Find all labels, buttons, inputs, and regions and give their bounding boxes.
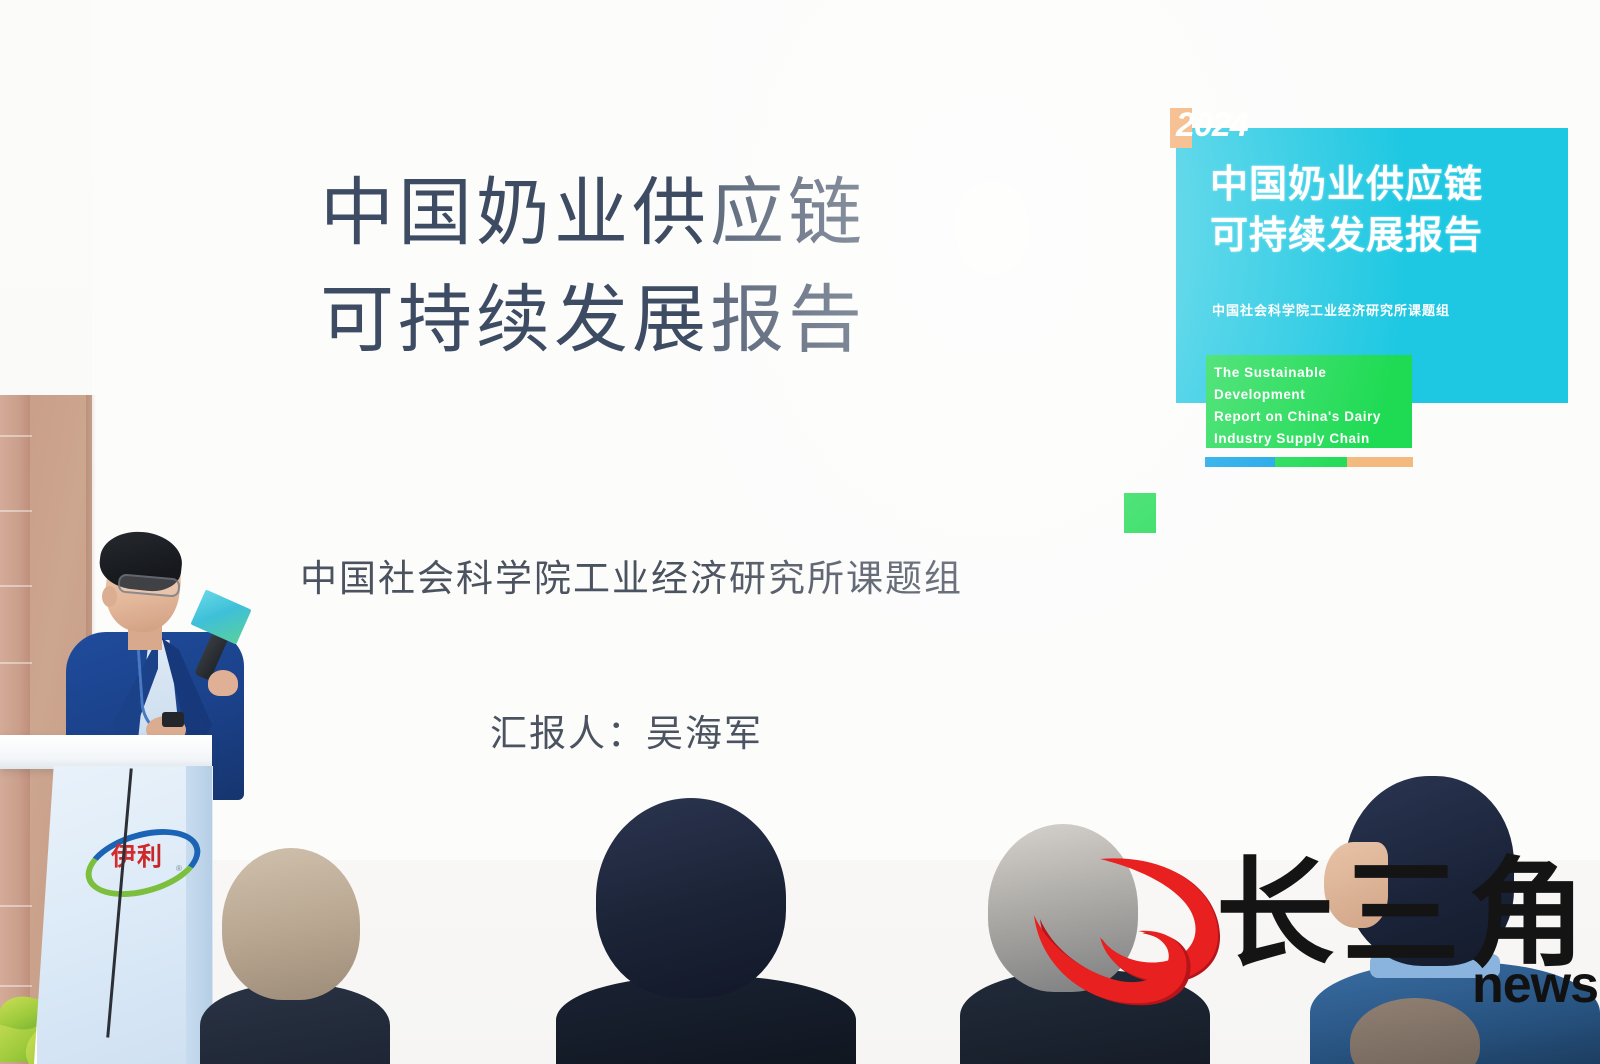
report-cover-artwork: 2024 中国奶业供应链 可持续发展报告 中国社会科学院工业经济研究所课题组 T…: [1170, 100, 1590, 500]
projection-screen: 中国奶业供应链 可持续发展报告 中国社会科学院工业经济研究所课题组 汇报人：吴海…: [92, 0, 1600, 860]
podium-top-surface: [0, 735, 212, 769]
watermark-news-text: news: [1472, 959, 1598, 1011]
wall-seam: [0, 662, 32, 664]
photo-scene: 中国奶业供应链 可持续发展报告 中国社会科学院工业经济研究所课题组 汇报人：吴海…: [0, 0, 1600, 1064]
speaker-hand-holding-mic: [208, 670, 238, 696]
cover-green-accent-chip: [1124, 493, 1156, 533]
watermark-red-mark: [1030, 853, 1230, 1033]
side-wall-panel-strip: [0, 395, 30, 1064]
yili-logo: 伊利 ®: [84, 832, 190, 882]
slide-organization: 中国社会科学院工业经济研究所课题组: [300, 548, 963, 602]
yili-logo-registered-mark: ®: [176, 864, 182, 873]
speaker-ear: [102, 586, 117, 607]
color-bar-green-segment: [1275, 457, 1347, 467]
wall-seam: [0, 435, 32, 437]
audience-head: [222, 848, 360, 1000]
wall-seam: [0, 585, 32, 587]
slide-title: 中国奶业供应链 可持续发展报告: [320, 160, 1020, 373]
wall-seam: [0, 510, 32, 512]
wall-seam: [0, 905, 32, 907]
wall-seam: [0, 985, 32, 987]
cover-english-title: The Sustainable Development Report on Ch…: [1214, 362, 1410, 449]
audience-head: [596, 798, 786, 998]
yili-logo-text: 伊利: [100, 840, 174, 874]
cover-chinese-subtitle: 中国社会科学院工业经济研究所课题组: [1212, 300, 1450, 319]
color-bar-blue-segment: [1205, 457, 1275, 467]
watermark-logo: 长三角 news: [1020, 845, 1600, 1045]
audience-member: [556, 784, 856, 1064]
presentation-clicker: [162, 712, 184, 727]
audience-member: [200, 824, 390, 1064]
cover-year-label: 2024: [1176, 106, 1248, 145]
color-bar-orange-segment: [1347, 457, 1413, 467]
slide-presenter: 汇报人：吴海军: [490, 703, 763, 757]
cover-chinese-title: 中国奶业供应链 可持续发展报告: [1210, 160, 1560, 261]
